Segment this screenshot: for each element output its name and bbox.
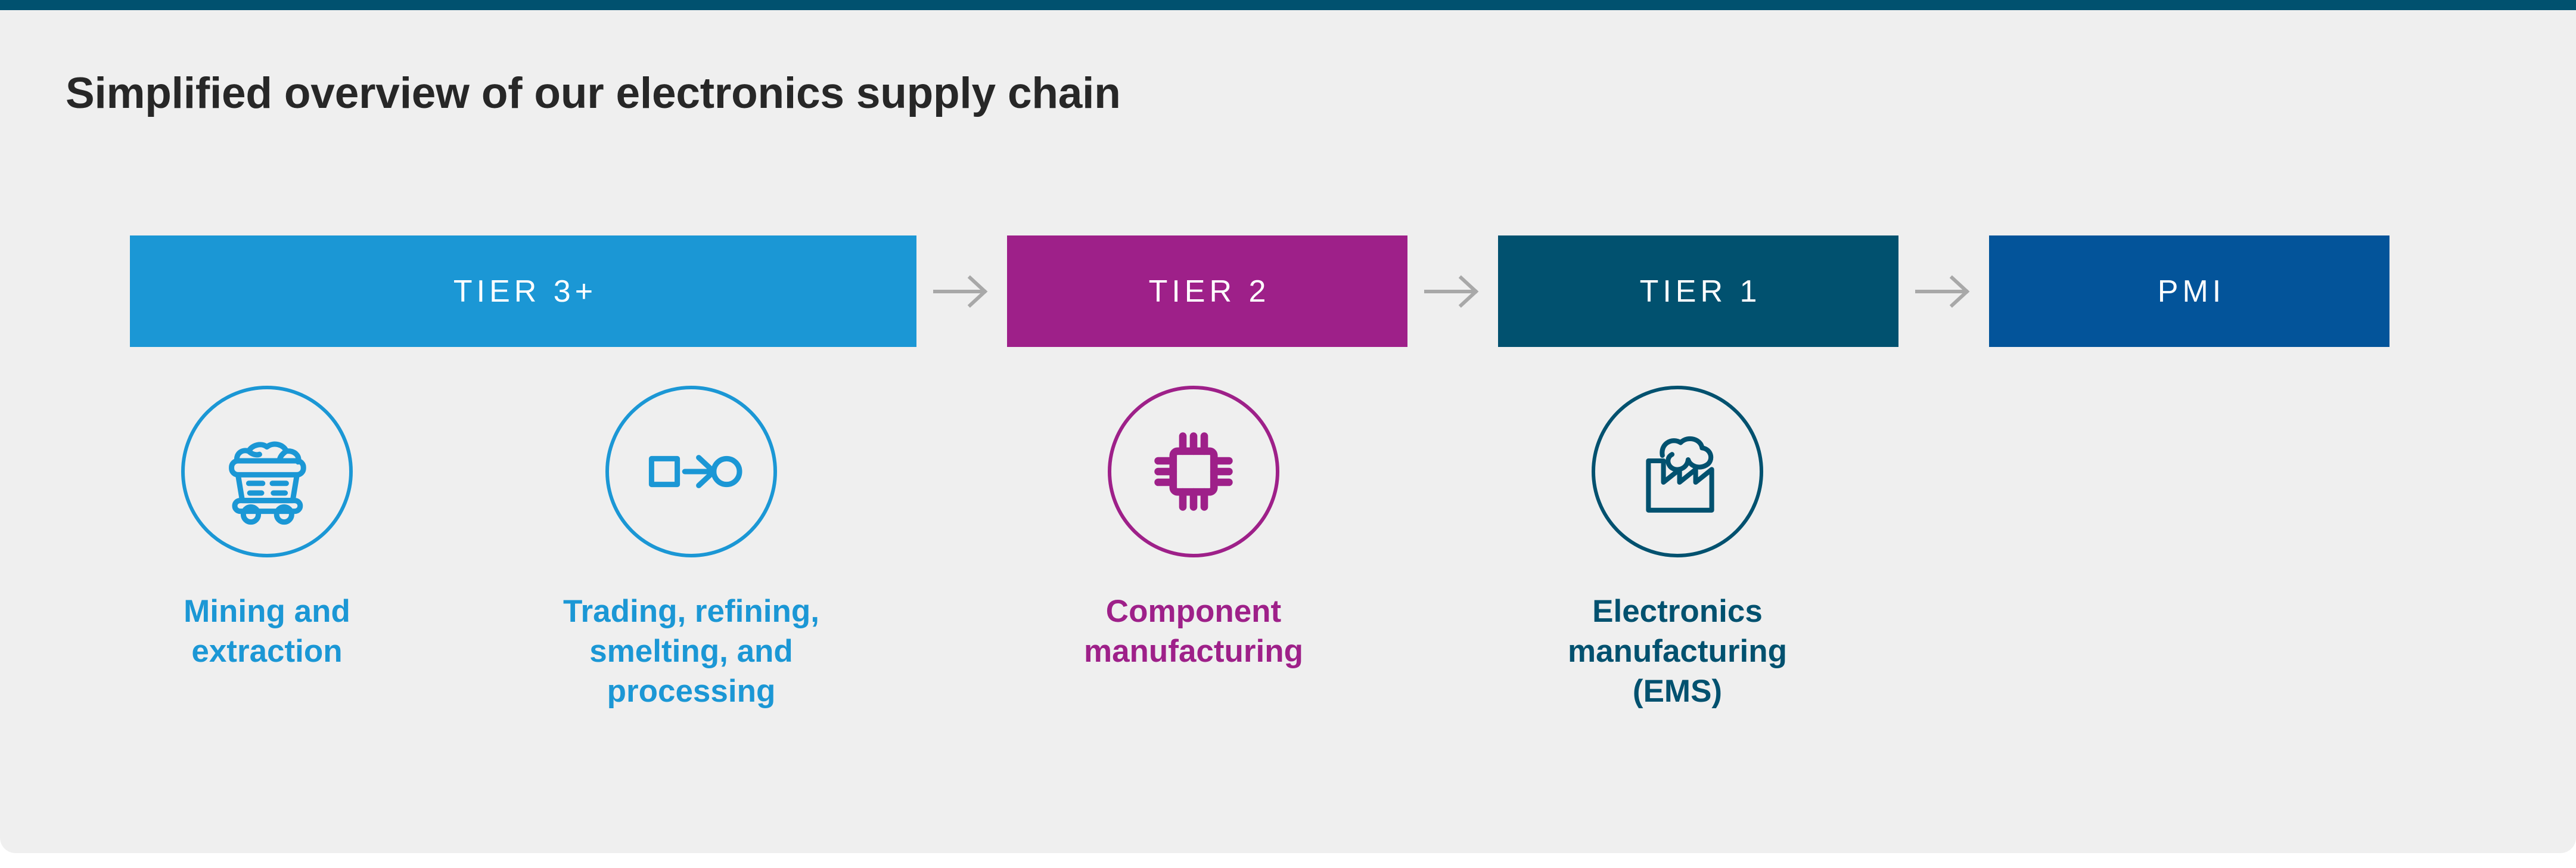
factory-icon [1592, 386, 1763, 557]
stage-row: Mining and extraction Trading, refining,… [130, 386, 2448, 797]
tier-bar-pmi[interactable]: PMI [1989, 235, 2389, 347]
stage-mining-and-extraction[interactable]: Mining and extraction [130, 386, 404, 672]
transform-square-to-circle-icon [605, 386, 777, 557]
tier-bar-label: TIER 1 [1636, 274, 1761, 309]
tier-bar-tier3[interactable]: TIER 3+ [130, 235, 916, 347]
stage-trading-refining-smelting-processing[interactable]: Trading, refining, smelting, and process… [554, 386, 828, 711]
page-title: Simplified overview of our electronics s… [66, 69, 1121, 118]
stage-caption: Trading, refining, smelting, and process… [536, 592, 846, 711]
supply-chain-diagram: Simplified overview of our electronics s… [0, 0, 2576, 868]
microchip-icon [1108, 386, 1279, 557]
arrow-right-icon [1898, 235, 1989, 347]
tier-bar-tier1[interactable]: TIER 1 [1498, 235, 1898, 347]
tier-bar-row: TIER 3+ TIER 2 TIER 1 [130, 235, 2389, 347]
stage-component-manufacturing[interactable]: Component manufacturing [1056, 386, 1331, 672]
top-accent-rule [0, 0, 2576, 10]
tier-bar-label: TIER 3+ [449, 274, 597, 309]
tier-bar-label: TIER 2 [1145, 274, 1270, 309]
mining-cart-icon [181, 386, 353, 557]
arrow-right-icon [1407, 235, 1498, 347]
diagram-card: Simplified overview of our electronics s… [0, 10, 2576, 853]
arrow-right-icon [916, 235, 1007, 347]
stage-caption: Mining and extraction [112, 592, 422, 672]
stage-caption: Electronics manufacturing (EMS) [1522, 592, 1832, 711]
stage-caption: Component manufacturing [1039, 592, 1348, 672]
tier-bar-tier2[interactable]: TIER 2 [1007, 235, 1407, 347]
stage-electronics-manufacturing-ems[interactable]: Electronics manufacturing (EMS) [1540, 386, 1814, 711]
tier-bar-label: PMI [2154, 274, 2225, 309]
